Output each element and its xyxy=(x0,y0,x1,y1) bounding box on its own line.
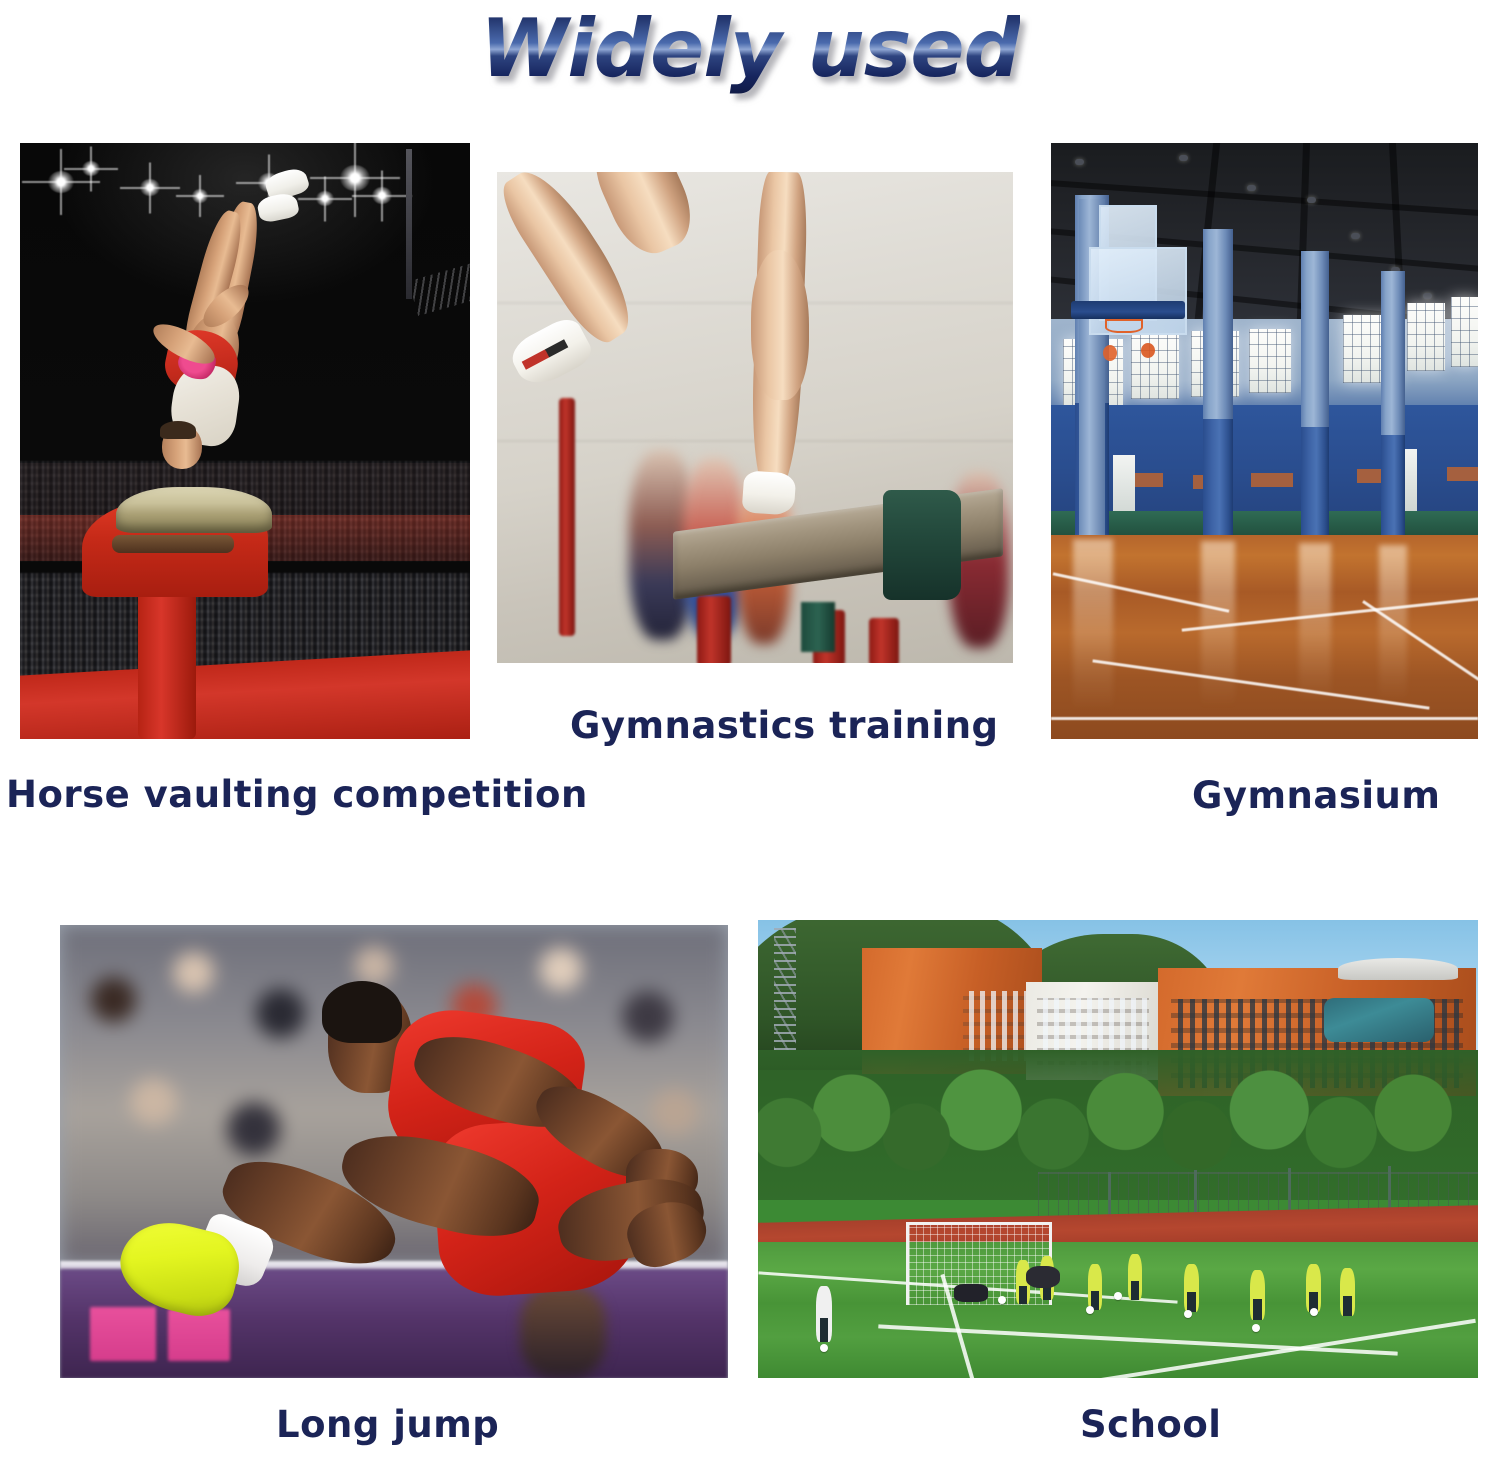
athlete-hair xyxy=(322,981,402,1043)
ceiling-light-icon xyxy=(1351,233,1360,239)
rigging-pole xyxy=(406,149,412,299)
spotlight-icon xyxy=(192,189,208,203)
soccer-ball xyxy=(1310,1308,1318,1316)
uneven-bars-pole xyxy=(559,398,575,636)
page-title: Widely used xyxy=(480,2,1020,95)
soccer-ball xyxy=(820,1344,828,1352)
soccer-ball xyxy=(998,1296,1006,1304)
caption-school: School xyxy=(1080,1403,1221,1446)
caption-gymnasium: Gymnasium xyxy=(1192,774,1440,817)
gym-column xyxy=(1381,271,1405,543)
vault-shadow xyxy=(112,535,234,553)
gym-column xyxy=(1203,229,1233,543)
school-field-scene xyxy=(758,920,1478,1378)
sponsor-sign xyxy=(90,1307,156,1361)
building-glass-facade xyxy=(1324,998,1434,1042)
gym-window xyxy=(1249,329,1291,393)
ceiling-light-icon xyxy=(1247,185,1256,191)
spectator-foreground xyxy=(520,1285,606,1378)
coach xyxy=(816,1286,832,1342)
basketball-icon xyxy=(1141,343,1155,358)
basketball-rim-icon xyxy=(1105,319,1143,333)
player xyxy=(1306,1264,1321,1312)
basketball-icon xyxy=(1103,345,1117,361)
spotlight-icon xyxy=(340,165,370,191)
gymnasium-scene xyxy=(1051,143,1478,739)
seated-players xyxy=(1026,1266,1060,1288)
gymnast-hair xyxy=(160,421,196,439)
gymnast-calf xyxy=(751,250,809,400)
spotlight-icon xyxy=(372,187,392,204)
photo-gymnastics-training xyxy=(497,172,1013,663)
balance-beam-scene xyxy=(497,172,1013,663)
bleacher xyxy=(1447,467,1478,481)
spotlight-icon xyxy=(48,171,74,193)
page-header: Widely used xyxy=(0,0,1500,110)
floor-reflection xyxy=(1073,539,1113,711)
rooftop-structure xyxy=(1338,958,1458,980)
long-jump-scene xyxy=(60,925,728,1378)
player xyxy=(1250,1270,1265,1320)
soccer-ball xyxy=(1086,1306,1094,1314)
photo-school xyxy=(758,920,1478,1378)
gym-window xyxy=(1131,333,1179,399)
caption-horse-vaulting: Horse vaulting competition xyxy=(6,773,588,816)
electric-pylon xyxy=(774,928,796,1050)
soccer-ball xyxy=(1114,1292,1122,1300)
photo-long-jump xyxy=(60,925,728,1378)
court-apron xyxy=(1051,511,1478,535)
ceiling-light-icon xyxy=(1179,155,1188,161)
gym-window xyxy=(1407,303,1445,371)
beam-support-leg xyxy=(869,618,899,663)
bleacher xyxy=(1251,473,1293,487)
basketball-hoop-arm xyxy=(1071,301,1185,319)
gym-window xyxy=(1451,297,1478,367)
court-line xyxy=(1051,717,1478,720)
caption-long-jump: Long jump xyxy=(276,1403,499,1446)
gymnast-slipper-standing xyxy=(742,470,797,516)
spotlight-icon xyxy=(82,161,100,176)
player xyxy=(1340,1268,1355,1316)
soccer-ball xyxy=(1184,1310,1192,1318)
gym-column xyxy=(1301,251,1329,543)
beam-support-leg xyxy=(697,596,731,663)
beam-end-cap xyxy=(883,490,961,600)
vaulting-scene xyxy=(20,143,470,739)
photo-gymnasium xyxy=(1051,143,1478,739)
soccer-ball xyxy=(1252,1324,1260,1332)
vault-horse-top xyxy=(116,487,272,533)
photo-horse-vaulting xyxy=(20,143,470,739)
gym-door xyxy=(1113,455,1135,519)
player xyxy=(1088,1264,1102,1310)
ceiling-light-icon xyxy=(1075,159,1084,165)
sponsor-sign xyxy=(168,1309,230,1361)
beam-base-block xyxy=(801,602,835,652)
player-legs xyxy=(820,1318,829,1342)
floor-reflection xyxy=(1299,543,1331,703)
soccer-pitch xyxy=(758,1242,1478,1378)
caption-gymnastics-training: Gymnastics training xyxy=(570,704,999,747)
player xyxy=(1184,1264,1199,1312)
spotlight-icon xyxy=(140,179,160,196)
ceiling-light-icon xyxy=(1423,293,1432,299)
player xyxy=(1128,1254,1142,1300)
spotlight-icon xyxy=(316,191,334,206)
ceiling-light-icon xyxy=(1307,197,1316,203)
equipment-bag xyxy=(954,1284,988,1302)
